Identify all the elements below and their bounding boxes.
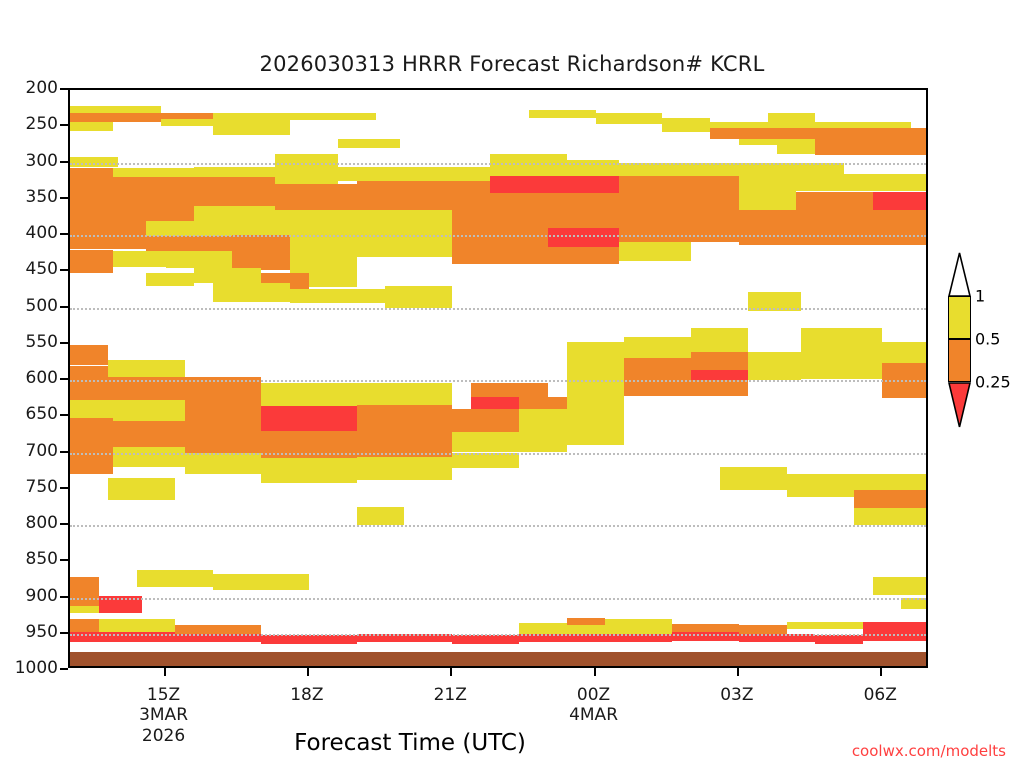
heatmap-cell bbox=[854, 490, 928, 507]
grid-line bbox=[70, 598, 926, 600]
y-axis-tick bbox=[60, 414, 68, 416]
y-axis-label: 250 bbox=[0, 114, 58, 134]
heatmap-cell bbox=[185, 453, 261, 475]
colorbar-segment bbox=[948, 339, 971, 382]
y-axis-tick bbox=[60, 161, 68, 163]
heatmap-cell bbox=[691, 380, 748, 396]
heatmap-cell bbox=[70, 380, 108, 400]
heatmap-cell bbox=[567, 342, 624, 362]
heatmap-cell bbox=[619, 242, 691, 261]
heatmap-cell bbox=[309, 273, 357, 288]
heatmap-cell bbox=[490, 154, 566, 167]
heatmap-cell bbox=[146, 236, 232, 251]
heatmap-cell bbox=[748, 352, 801, 380]
heatmap-cell bbox=[194, 268, 261, 283]
grid-line bbox=[70, 163, 926, 165]
heatmap-cell bbox=[99, 619, 175, 632]
heatmap-cell bbox=[70, 113, 161, 122]
heatmap-cell bbox=[290, 239, 357, 256]
grid-line bbox=[70, 308, 926, 310]
heatmap-cell bbox=[796, 192, 872, 212]
heatmap-cell bbox=[261, 406, 357, 431]
heatmap-cell bbox=[801, 352, 882, 378]
y-axis-label: 400 bbox=[0, 223, 58, 243]
y-axis-tick bbox=[60, 523, 68, 525]
x-axis-label: 06Z bbox=[864, 685, 897, 705]
heatmap-cell bbox=[70, 250, 113, 273]
heatmap-cell bbox=[338, 167, 405, 182]
heatmap-cell bbox=[777, 139, 815, 154]
heatmap-cell bbox=[70, 606, 99, 613]
heatmap-cell bbox=[567, 362, 624, 379]
heatmap-cell bbox=[619, 176, 738, 191]
heatmap-cell bbox=[882, 342, 928, 362]
y-axis-tick bbox=[60, 487, 68, 489]
y-axis-label: 700 bbox=[0, 441, 58, 461]
y-axis-tick bbox=[60, 668, 68, 670]
x-axis-tick bbox=[594, 668, 596, 676]
grid-line bbox=[70, 525, 926, 527]
heatmap-cell bbox=[452, 228, 548, 247]
chart-title: 2026030313 HRRR Forecast Richardson# KCR… bbox=[0, 52, 1024, 76]
heatmap-cell bbox=[161, 119, 214, 126]
heatmap-cell bbox=[290, 113, 376, 120]
heatmap-cell bbox=[108, 447, 184, 467]
y-axis-label: 450 bbox=[0, 259, 58, 279]
heatmap-cell bbox=[519, 432, 567, 452]
y-axis-label: 600 bbox=[0, 368, 58, 388]
heatmap-cell bbox=[882, 380, 928, 398]
heatmap-cell bbox=[357, 457, 453, 480]
heatmap-cell bbox=[108, 360, 184, 377]
heatmap-cell bbox=[739, 189, 796, 211]
x-axis-label: 18Z bbox=[290, 685, 323, 705]
heatmap-cell bbox=[768, 113, 816, 128]
heatmap-cell bbox=[70, 189, 118, 204]
heatmap-cell bbox=[70, 122, 113, 131]
heatmap-cell bbox=[357, 181, 491, 197]
colorbar: 10.50.25 bbox=[948, 296, 971, 468]
terrain-band bbox=[70, 652, 926, 668]
colorbar-under-arrow bbox=[948, 382, 971, 428]
heatmap-cell bbox=[471, 397, 519, 409]
heatmap-cell bbox=[619, 190, 738, 210]
y-axis-label: 750 bbox=[0, 477, 58, 497]
colorbar-segment bbox=[948, 296, 971, 339]
y-axis-label: 500 bbox=[0, 296, 58, 316]
x-axis-tick bbox=[307, 668, 309, 676]
x-axis-label: 03Z bbox=[720, 685, 753, 705]
heatmap-cell bbox=[720, 467, 787, 490]
y-axis-tick bbox=[60, 451, 68, 453]
heatmap-cell bbox=[519, 397, 567, 409]
y-axis-label: 800 bbox=[0, 513, 58, 533]
heatmap-cell bbox=[275, 199, 356, 211]
heatmap-cell bbox=[882, 363, 928, 380]
heatmap-cell bbox=[194, 192, 275, 207]
heatmap-cell bbox=[854, 474, 928, 490]
heatmap-cell bbox=[404, 167, 490, 182]
heatmap-cell bbox=[70, 400, 113, 417]
heatmap-cell bbox=[99, 606, 142, 613]
heatmap-cell bbox=[567, 618, 605, 625]
heatmap-cell bbox=[113, 177, 275, 192]
x-axis-label: 21Z bbox=[434, 685, 467, 705]
heatmap-cell bbox=[185, 424, 261, 453]
plot-area bbox=[68, 88, 928, 668]
heatmap-cell bbox=[691, 370, 748, 380]
y-axis-label: 300 bbox=[0, 151, 58, 171]
y-axis-tick bbox=[60, 306, 68, 308]
heatmap-cell bbox=[166, 251, 233, 268]
heatmap-cell bbox=[739, 625, 787, 634]
heatmap-cell bbox=[567, 625, 605, 634]
heatmap-cell bbox=[338, 139, 400, 148]
heatmap-cell bbox=[275, 154, 337, 167]
heatmap-cell bbox=[567, 406, 624, 445]
heatmap-cell bbox=[548, 247, 620, 264]
grid-line bbox=[70, 235, 926, 237]
heatmap-cell bbox=[471, 383, 547, 398]
heatmap-cell bbox=[70, 619, 99, 632]
heatmap-cell bbox=[113, 251, 166, 267]
heatmap-cell bbox=[452, 210, 928, 227]
heatmap-cell bbox=[873, 577, 928, 594]
y-axis-label: 200 bbox=[0, 78, 58, 98]
heatmap-cell bbox=[672, 624, 739, 633]
x-axis-tick bbox=[164, 668, 166, 676]
grid-line bbox=[70, 380, 926, 382]
heatmap-cell bbox=[194, 206, 275, 221]
y-axis-tick bbox=[60, 559, 68, 561]
heatmap-cell bbox=[452, 409, 519, 432]
x-axis-tick bbox=[880, 668, 882, 676]
heatmap-cell bbox=[548, 228, 620, 247]
heatmap-cell bbox=[490, 176, 619, 193]
heatmap-cell bbox=[691, 352, 748, 369]
heatmap-cell bbox=[70, 418, 113, 446]
heatmap-cell bbox=[873, 192, 928, 212]
y-axis-label: 550 bbox=[0, 332, 58, 352]
heatmap-cell bbox=[624, 358, 691, 378]
heatmap-cell bbox=[113, 421, 185, 447]
heatmap-cell bbox=[691, 328, 748, 353]
y-axis-tick bbox=[60, 88, 68, 90]
x-axis-label: 00Z bbox=[577, 685, 610, 705]
y-axis-label: 1000 bbox=[0, 658, 58, 678]
heatmap-cell bbox=[175, 625, 261, 634]
heatmap-cell bbox=[70, 445, 113, 474]
heatmap-cell bbox=[624, 337, 691, 359]
heatmap-cell bbox=[290, 289, 386, 304]
x-axis-title: Forecast Time (UTC) bbox=[130, 730, 690, 756]
heatmap-cell bbox=[815, 635, 863, 644]
y-axis-tick bbox=[60, 342, 68, 344]
heatmap-cell bbox=[452, 453, 519, 469]
heatmap-cell bbox=[739, 139, 777, 145]
grid-line bbox=[70, 634, 926, 636]
grid-line bbox=[70, 453, 926, 455]
heatmap-cell bbox=[710, 128, 767, 140]
heatmap-cell bbox=[801, 328, 882, 353]
heatmap-cell bbox=[357, 238, 453, 257]
heatmap-cell bbox=[662, 118, 710, 133]
heatmap-cell bbox=[357, 405, 453, 430]
heatmap-cell bbox=[113, 400, 185, 420]
heatmap-cell bbox=[787, 474, 854, 497]
heatmap-cell bbox=[863, 622, 928, 631]
heatmap-cell bbox=[519, 623, 567, 634]
heatmap-cell bbox=[213, 113, 289, 135]
y-axis-tick bbox=[60, 197, 68, 199]
heatmap-cell bbox=[490, 193, 619, 210]
heatmap-cell bbox=[357, 210, 453, 222]
heatmap-cell bbox=[232, 235, 289, 257]
heatmap-cell bbox=[146, 273, 194, 286]
heatmap-cell bbox=[70, 345, 108, 365]
heatmap-cell bbox=[796, 174, 928, 191]
y-axis-label: 950 bbox=[0, 622, 58, 642]
heatmap-cell bbox=[70, 366, 108, 381]
heatmap-cell bbox=[739, 176, 796, 189]
heatmap-cell bbox=[815, 139, 928, 155]
y-axis-tick bbox=[60, 378, 68, 380]
watermark: coolwx.com/modelts bbox=[852, 742, 1006, 760]
heatmap-cell bbox=[232, 221, 275, 236]
heatmap-cell bbox=[490, 167, 566, 176]
x-axis-label: 15Z bbox=[147, 685, 180, 705]
y-axis-tick bbox=[60, 632, 68, 634]
colorbar-label: 1 bbox=[975, 287, 985, 306]
heatmap-cell bbox=[137, 570, 213, 587]
heatmap-cell bbox=[213, 283, 289, 302]
heatmap-cell bbox=[261, 383, 357, 406]
heatmap-cell bbox=[275, 167, 337, 184]
heatmap-cell bbox=[194, 167, 275, 177]
heatmap-cell bbox=[213, 574, 309, 590]
heatmap-cell bbox=[596, 113, 663, 124]
y-axis-tick bbox=[60, 596, 68, 598]
heatmap-cell bbox=[452, 635, 519, 644]
colorbar-over-arrow bbox=[948, 252, 971, 296]
heatmap-cell bbox=[357, 383, 453, 405]
heatmap-cell bbox=[452, 432, 519, 452]
heatmap-cell bbox=[70, 168, 113, 188]
heatmap-cell bbox=[357, 507, 405, 525]
heatmap-cell bbox=[185, 402, 261, 424]
heatmap-cell bbox=[452, 247, 548, 264]
x-axis-date-label: 3MAR bbox=[139, 705, 188, 725]
heatmap-cell bbox=[70, 106, 161, 113]
heatmap-cell bbox=[290, 257, 357, 273]
y-axis-tick bbox=[60, 269, 68, 271]
y-axis-label: 900 bbox=[0, 586, 58, 606]
colorbar-label: 0.25 bbox=[975, 373, 1011, 392]
heatmap-cell bbox=[385, 286, 452, 308]
heatmap-cell bbox=[357, 197, 491, 210]
heatmap-cell bbox=[787, 622, 863, 629]
heatmap-cell bbox=[854, 508, 928, 525]
heatmap-cell bbox=[567, 379, 624, 407]
heatmap-cell bbox=[815, 122, 911, 128]
heatmap-cell bbox=[261, 458, 357, 483]
heatmap-cell bbox=[70, 577, 99, 596]
heatmap-cell bbox=[519, 409, 567, 432]
x-axis-tick bbox=[737, 668, 739, 676]
heatmap-cell bbox=[108, 478, 175, 500]
heatmap-cell bbox=[529, 110, 596, 117]
heatmap-cell bbox=[605, 619, 672, 634]
heatmap-cells bbox=[70, 90, 926, 666]
heatmap-cell bbox=[70, 203, 194, 222]
y-axis-label: 350 bbox=[0, 187, 58, 207]
heatmap-cell bbox=[275, 184, 356, 199]
heatmap-cell bbox=[768, 128, 928, 140]
heatmap-cell bbox=[275, 210, 356, 225]
y-axis-label: 650 bbox=[0, 404, 58, 424]
y-axis-tick bbox=[60, 124, 68, 126]
heatmap-cell bbox=[113, 168, 194, 177]
heatmap-cell bbox=[261, 635, 357, 644]
heatmap-cell bbox=[863, 631, 928, 641]
colorbar-label: 0.5 bbox=[975, 330, 1000, 349]
y-axis-tick bbox=[60, 233, 68, 235]
x-axis-tick bbox=[450, 668, 452, 676]
x-axis-date-label: 4MAR bbox=[569, 705, 618, 725]
y-axis-label: 850 bbox=[0, 549, 58, 569]
